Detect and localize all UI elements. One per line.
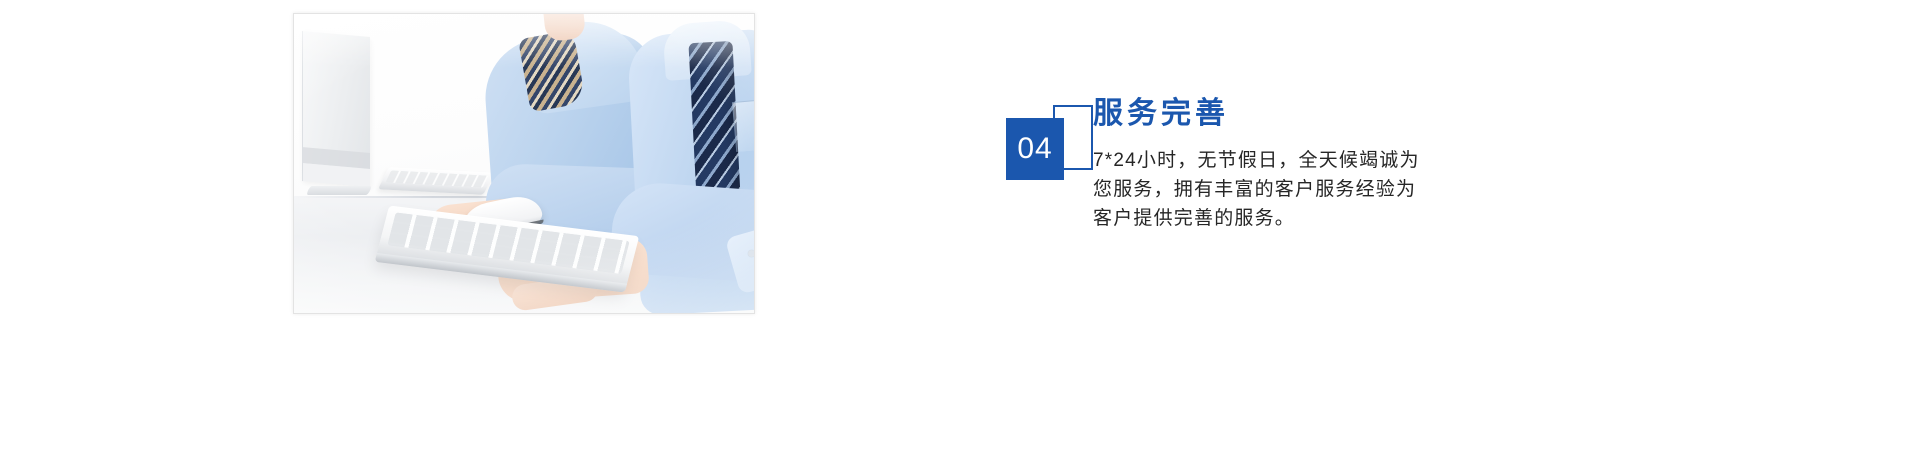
- keyboard-far-icon: [378, 167, 494, 195]
- cuff-button: [748, 250, 754, 257]
- section-body-line-3: 客户提供完善的服务。: [1093, 204, 1485, 233]
- section-text-column: 服务完善 7*24小时，无节假日，全天候竭诚为 您服务，拥有丰富的客户服务经验为…: [1093, 96, 1513, 233]
- page-root: 04 服务完善 7*24小时，无节假日，全天候竭诚为 您服务，拥有丰富的客户服务…: [0, 0, 1920, 452]
- section-number-label: 04: [1017, 134, 1052, 164]
- section-title: 服务完善: [1093, 96, 1513, 132]
- section-body: 7*24小时，无节假日，全天候竭诚为 您服务，拥有丰富的客户服务经验为 客户提供…: [1093, 146, 1485, 233]
- service-photo-frame: [293, 13, 755, 314]
- monitor-icon: [302, 31, 370, 187]
- person-with-striped-tie: [616, 14, 754, 313]
- monitor-stand: [306, 186, 372, 195]
- service-photo: [294, 14, 754, 313]
- section-number-badge: 04: [1006, 118, 1064, 180]
- person-b-pocket: [732, 98, 754, 152]
- section-body-line-2: 您服务，拥有丰富的客户服务经验为: [1093, 175, 1485, 204]
- section-body-line-1: 7*24小时，无节假日，全天候竭诚为: [1093, 146, 1485, 175]
